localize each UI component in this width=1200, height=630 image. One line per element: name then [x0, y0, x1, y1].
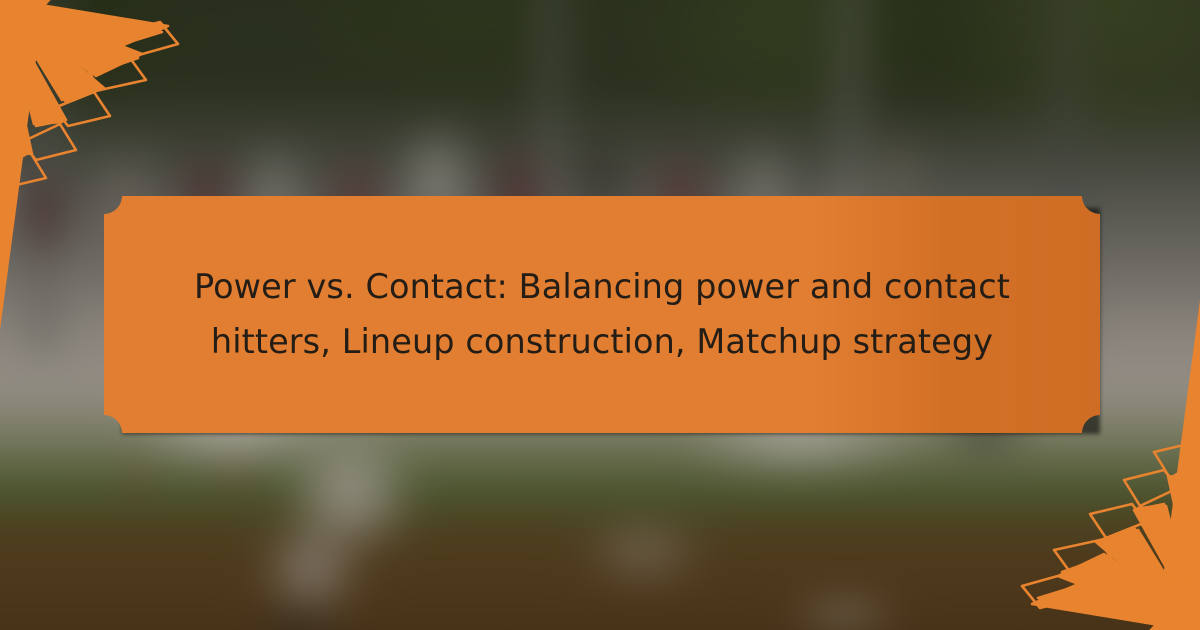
- banner-title-line-2: hitters, Lineup construction, Matchup st…: [172, 315, 1032, 369]
- banner-title-line-1: Power vs. Contact: Balancing power and c…: [172, 260, 1032, 314]
- title-banner: Power vs. Contact: Balancing power and c…: [104, 196, 1100, 433]
- banner-title-text: Power vs. Contact: Balancing power and c…: [172, 260, 1032, 369]
- banner-graphic: Power vs. Contact: Balancing power and c…: [0, 0, 1200, 630]
